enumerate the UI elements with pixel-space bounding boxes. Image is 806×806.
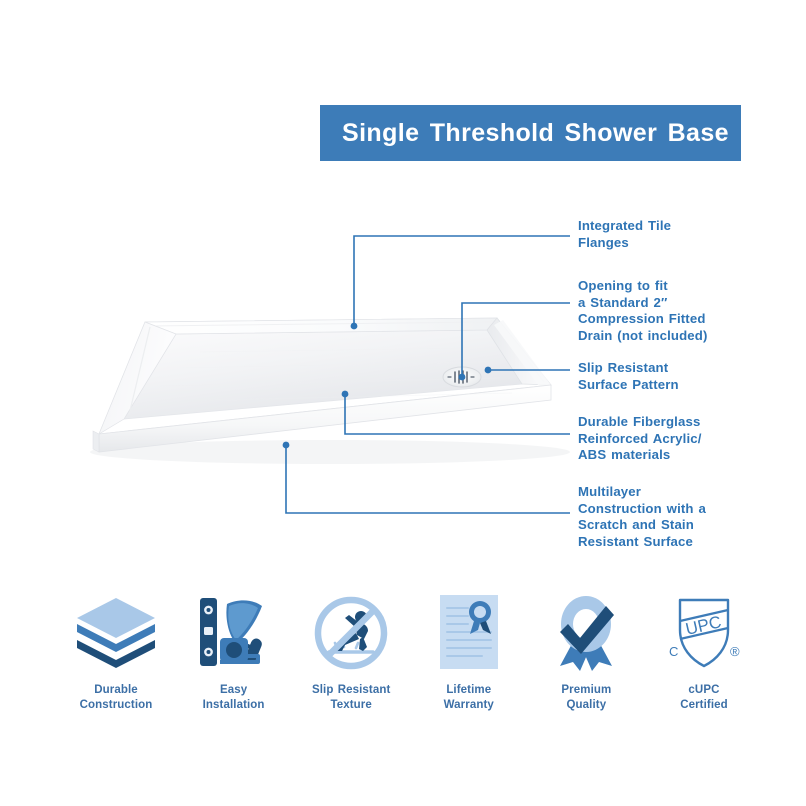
shield-right-mark: ® (730, 644, 740, 659)
dot-durable-materials (342, 391, 349, 398)
dot-drain-opening (459, 374, 466, 381)
feature-lifetime-warranty: Lifetime Warranty (413, 592, 525, 712)
feature-durable-construction: Durable Construction (60, 592, 172, 712)
dot-multilayer-construction (283, 442, 290, 449)
callout-durable-materials: Durable Fiberglass Reinforced Acrylic/ A… (578, 414, 702, 464)
feature-cupc-certified: UPC C ® cUPC Certified (648, 592, 760, 712)
upc-shield-icon: UPC C ® (662, 592, 746, 674)
callout-multilayer-construction: Multilayer Construction with a Scratch a… (578, 484, 706, 550)
feature-label: Durable Construction (80, 683, 153, 712)
feature-premium-quality: Premium Quality (530, 592, 642, 712)
trowel-level-tape-icon (194, 592, 274, 674)
feature-slip-resistant-texture: Slip Resistant Texture (295, 592, 407, 712)
feature-label: Easy Installation (203, 683, 265, 712)
feature-label: cUPC Certified (680, 683, 728, 712)
shield-upc-text: UPC (684, 612, 723, 639)
leader-durable-materials (345, 394, 570, 434)
shield-left-mark: C (669, 644, 678, 659)
leader-endpoint-dots (283, 323, 492, 449)
stacked-layers-icon (73, 592, 159, 674)
no-slip-icon (311, 592, 391, 674)
leader-drain-opening (462, 303, 570, 377)
certificate-rosette-icon (434, 592, 504, 674)
feature-easy-installation: Easy Installation (178, 592, 290, 712)
dot-slip-resistant-surface (485, 367, 492, 374)
callout-integrated-tile-flanges: Integrated Tile Flanges (578, 218, 671, 251)
ribbon-check-icon (546, 592, 626, 674)
callout-drain-opening: Opening to fit a Standard 2″ Compression… (578, 278, 708, 344)
feature-label: Slip Resistant Texture (312, 683, 390, 712)
callout-slip-resistant-surface-pattern: Slip Resistant Surface Pattern (578, 360, 679, 393)
feature-label: Lifetime Warranty (444, 683, 494, 712)
dot-integrated-tile-flanges (351, 323, 358, 330)
feature-badge-row: Durable Construction (60, 592, 760, 732)
feature-label: Premium Quality (561, 683, 611, 712)
leader-multilayer-construction (286, 445, 570, 513)
infographic-canvas: Single Threshold Shower Base (0, 0, 806, 806)
